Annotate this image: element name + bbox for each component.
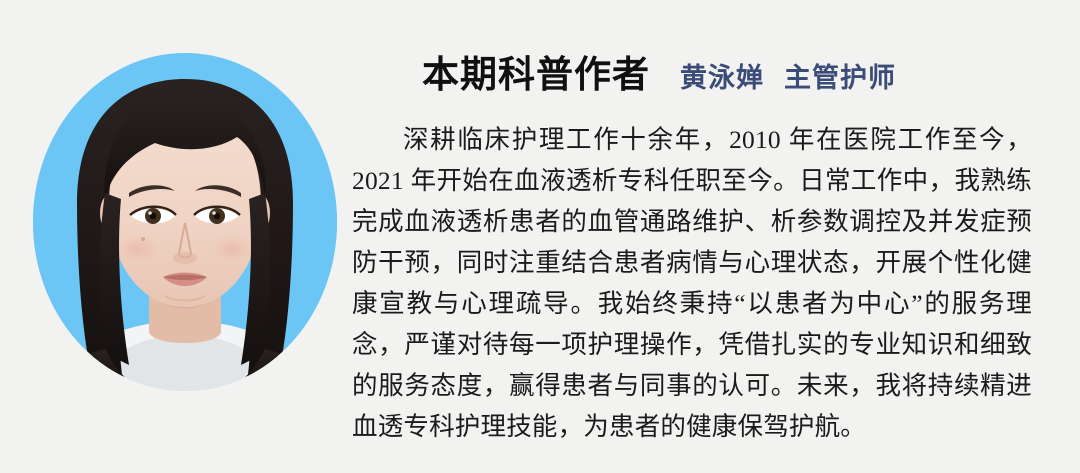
author-profile-card: 本期科普作者 黄泳婵 主管护师 深耕临床护理工作十余年，2010 年在医院工作至… [0, 0, 1080, 473]
author-name: 黄泳婵 [680, 63, 764, 94]
headline-row: 本期科普作者 黄泳婵 主管护师 [352, 56, 1034, 93]
portrait-illustration [33, 53, 337, 391]
page-title: 本期科普作者 [422, 53, 650, 96]
author-job-title: 主管护师 [784, 63, 896, 94]
author-text-column: 本期科普作者 黄泳婵 主管护师 深耕临床护理工作十余年，2010 年在医院工作至… [352, 56, 1034, 447]
author-bio-paragraph: 深耕临床护理工作十余年，2010 年在医院工作至今，2021 年开始在血液透析专… [352, 119, 1032, 447]
author-portrait-photo [33, 53, 337, 391]
